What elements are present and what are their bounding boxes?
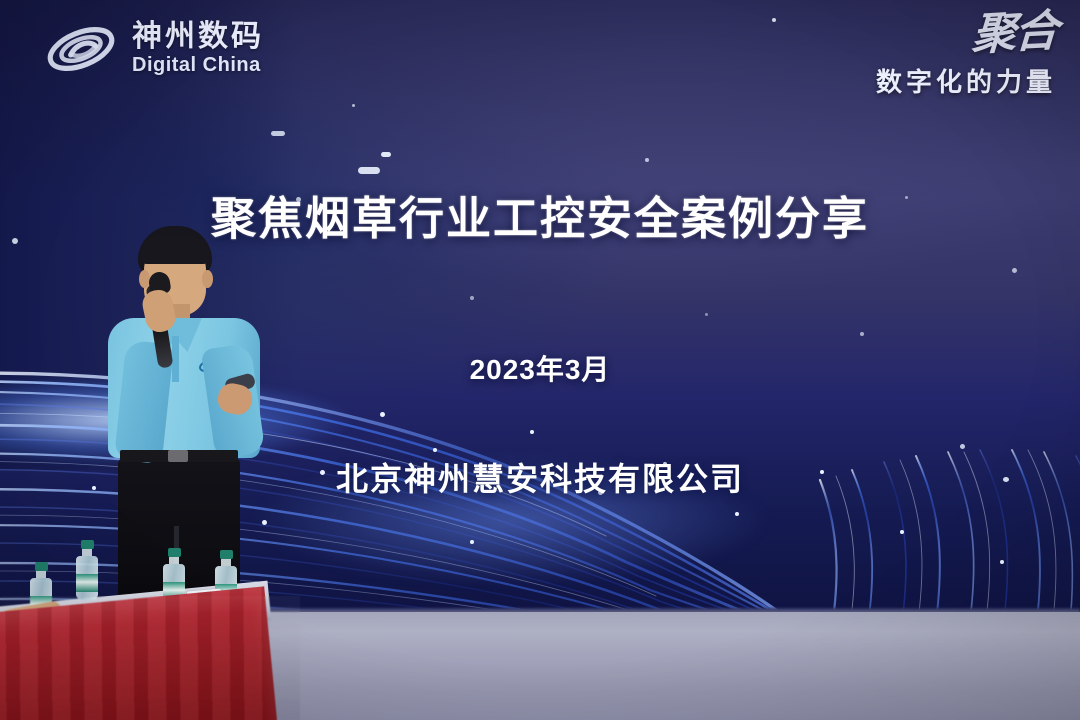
brand-chinese-name: 神州数码 (132, 21, 264, 53)
event-subtitle: 数字化的力量 (876, 62, 1056, 99)
digital-china-swirl-icon (44, 18, 118, 80)
bottle-neck (221, 559, 231, 566)
bottle-cap (220, 550, 233, 559)
bottle-neck (82, 549, 92, 556)
digital-china-wordmark: 神州数码 Digital China (132, 21, 264, 78)
bottle-cap (168, 548, 181, 557)
bottle-body (76, 556, 98, 600)
water-bottle (76, 540, 98, 600)
bottle-cap (35, 562, 48, 571)
speaker-placket (172, 336, 179, 382)
speaker-figure (92, 226, 282, 626)
belt-buckle (168, 450, 188, 462)
bottle-cap (81, 540, 94, 549)
speaker-ear-right (202, 270, 213, 288)
bottle-neck (169, 557, 179, 564)
bottle-neck (36, 571, 46, 578)
brand-english-name: Digital China (132, 54, 264, 77)
speaker-hair-front (140, 234, 210, 264)
event-calligraphy: 聚合 (874, 9, 1057, 62)
conference-photo: 神州数码 Digital China 聚合 数字化的力量 聚焦烟草行业工控安全案… (0, 0, 1080, 720)
digital-china-logo: 神州数码 Digital China (44, 18, 264, 80)
event-logo: 聚合 数字化的力量 (876, 14, 1056, 99)
bottle-label (76, 574, 98, 592)
